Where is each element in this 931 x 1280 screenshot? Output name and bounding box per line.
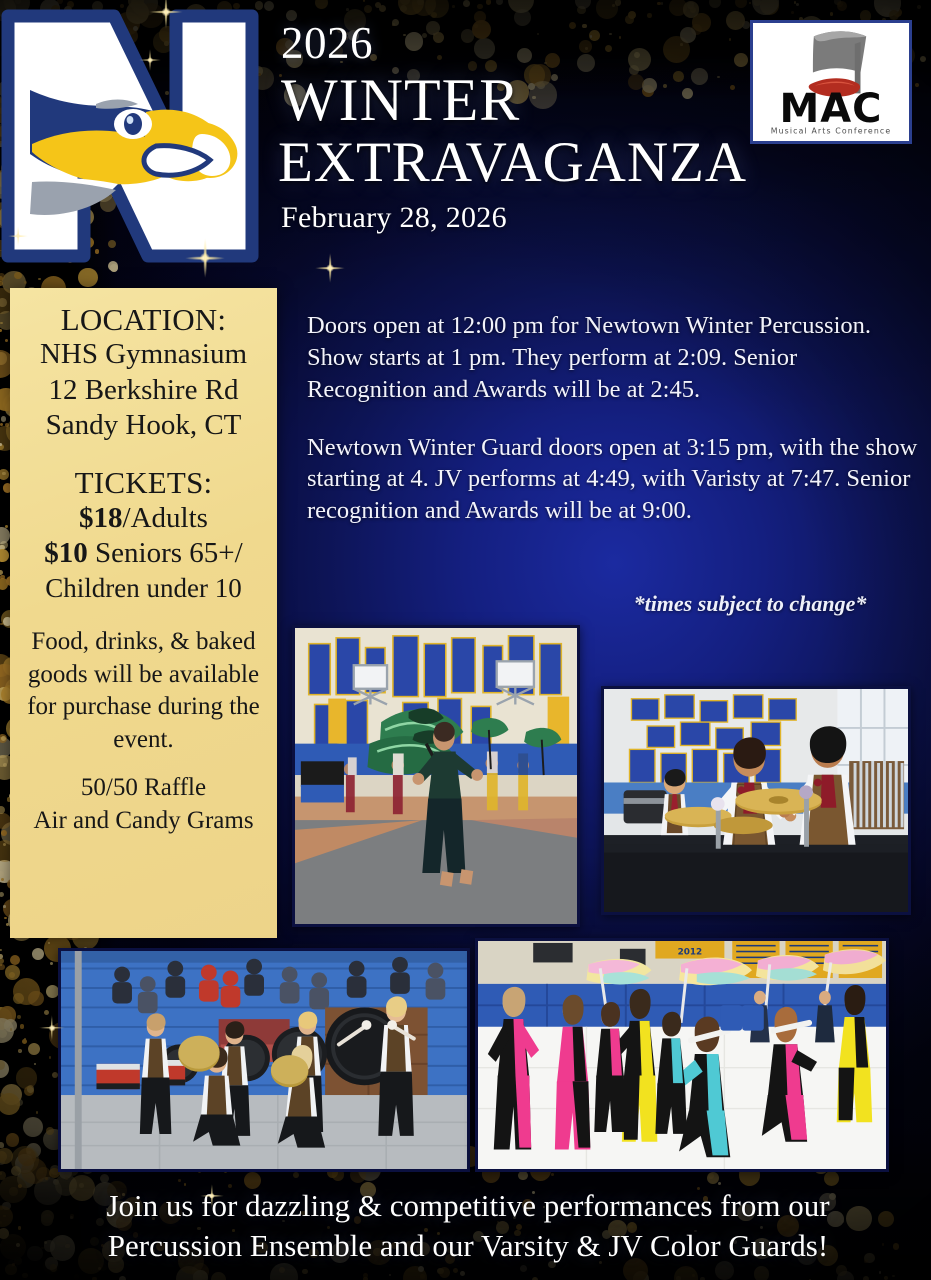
mac-logo: MAC Musical Arts Conference <box>750 20 912 144</box>
location-and-tickets-box: LOCATION: NHS Gymnasium 12 Berkshire Rd … <box>10 288 277 938</box>
poster-headline: 2026 WINTER EXTRAVAGANZA February 28, 20… <box>281 20 751 237</box>
ticket-price-adult-amount: $18 <box>79 502 123 534</box>
mac-acronym-text: MAC <box>780 86 883 132</box>
venue-name: NHS Gymnasium <box>20 337 267 372</box>
newtown-nighthawks-n-logo <box>0 0 264 276</box>
venue-city-state: Sandy Hook, CT <box>20 408 267 443</box>
ticket-price-adult-label: /Adults <box>123 502 208 534</box>
ticket-price-reduced-line2: Children under 10 <box>20 572 267 605</box>
mac-subtitle-text: Musical Arts Conference <box>771 126 892 135</box>
poster-date: February 28, 2026 <box>281 199 751 237</box>
tagline-line2: Percussion Ensemble and our Varsity & JV… <box>28 1226 908 1266</box>
grams-note: Air and Candy Grams <box>20 805 267 838</box>
poster-year: 2026 <box>281 20 751 68</box>
photo-color-guard-green-flags <box>292 625 580 927</box>
raffle-note: 50/50 Raffle <box>20 772 267 805</box>
photo-color-guard-pastel-flags: 2012 <box>475 938 889 1172</box>
photo-drumline-bass-drums <box>58 948 470 1172</box>
ticket-price-reduced: $10 Seniors 65+/ <box>20 536 267 571</box>
schedule-paragraph-percussion: Doors open at 12:00 pm for Newtown Winte… <box>307 310 919 406</box>
schedule-text: Doors open at 12:00 pm for Newtown Winte… <box>307 310 919 527</box>
location-heading: LOCATION: <box>20 302 267 337</box>
ticket-price-adult: $18/Adults <box>20 501 267 536</box>
poster-title-line1: WINTER <box>281 68 751 133</box>
banner-year-2012: 2012 <box>678 948 703 958</box>
schedule-paragraph-guard: Newtown Winter Guard doors open at 3:15 … <box>307 432 919 528</box>
ticket-price-reduced-amount: $10 <box>44 537 88 569</box>
poster-tagline: Join us for dazzling & competitive perfo… <box>28 1186 908 1267</box>
poster-title-line2: EXTRAVAGANZA <box>278 132 751 194</box>
tickets-heading: TICKETS: <box>20 465 267 500</box>
concessions-note: Food, drinks, & baked goods will be avai… <box>20 626 267 756</box>
photo-percussion-cymbals <box>601 686 911 915</box>
venue-street: 12 Berkshire Rd <box>20 373 267 408</box>
times-disclaimer: *times subject to change* <box>600 591 900 617</box>
event-poster: MAC Musical Arts Conference 2026 WINTER … <box>0 0 931 1280</box>
ticket-price-reduced-label: Seniors 65+/ <box>88 537 243 569</box>
tagline-line1: Join us for dazzling & competitive perfo… <box>28 1186 908 1226</box>
